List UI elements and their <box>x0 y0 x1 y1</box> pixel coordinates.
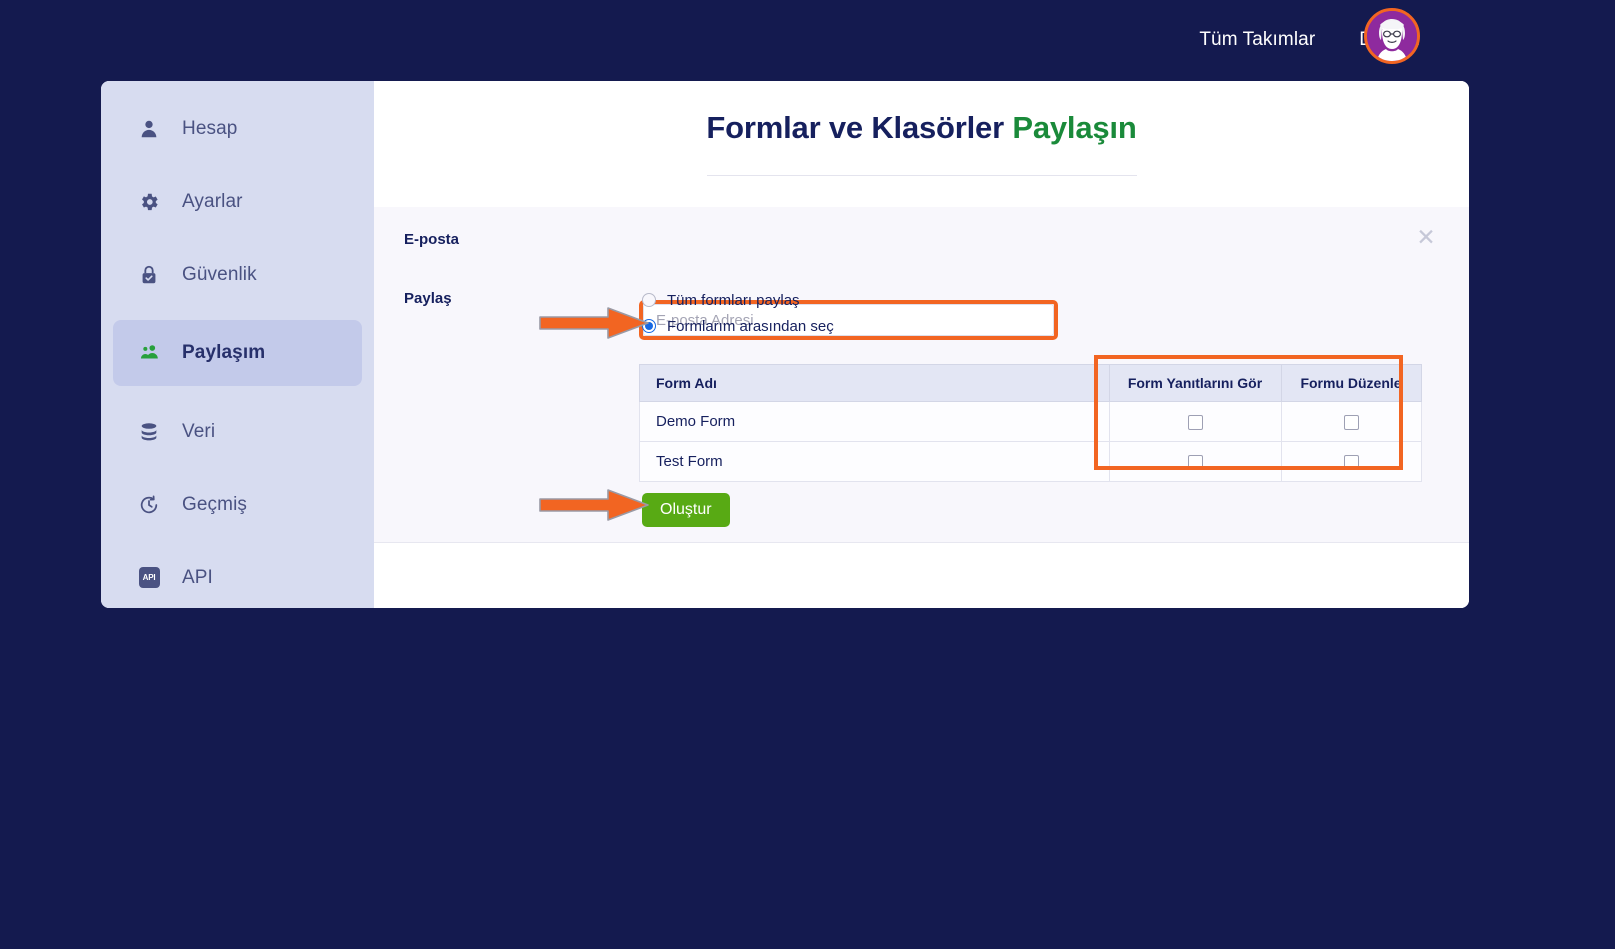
api-badge-icon: API <box>138 567 160 589</box>
checkbox-view-responses[interactable] <box>1188 455 1203 470</box>
arrow-annotation-create-button <box>536 487 652 523</box>
avatar[interactable] <box>1364 8 1420 64</box>
sidebar: Hesap Ayarlar Güvenlik <box>101 81 374 608</box>
checkbox-view-responses[interactable] <box>1188 415 1203 430</box>
checkbox-edit-form[interactable] <box>1344 455 1359 470</box>
avatar-face-icon <box>1367 11 1417 61</box>
cell-edit-form <box>1282 402 1422 442</box>
arrow-annotation-radio <box>536 305 652 341</box>
sidebar-item-label: Hesap <box>182 118 237 140</box>
gear-icon <box>138 191 160 213</box>
table-header-row: Form Adı Form Yanıtlarını Gör Formu Düze… <box>640 365 1422 402</box>
api-badge-text: API <box>139 567 160 588</box>
cell-view-responses <box>1110 442 1282 482</box>
share-label: Paylaş <box>404 290 452 307</box>
checkbox-edit-form[interactable] <box>1344 415 1359 430</box>
sidebar-item-label: Güvenlik <box>182 264 257 286</box>
column-header-view-responses: Form Yanıtlarını Gör <box>1110 365 1282 402</box>
content-area: Formlar ve Klasörler Paylaşın E-posta Pa… <box>374 81 1469 608</box>
radio-option-all-forms[interactable]: Tüm formları paylaş <box>642 287 834 313</box>
page-title-main: Formlar ve Klasörler <box>706 110 1004 145</box>
page-title-accent: Paylaşın <box>1012 110 1136 145</box>
close-icon[interactable]: ✕ <box>1414 225 1438 249</box>
create-button[interactable]: Oluştur <box>642 493 730 527</box>
radio-option-select-forms[interactable]: Formlarım arasından seç <box>642 313 834 339</box>
sidebar-item-label: Veri <box>182 421 215 443</box>
settings-card: Hesap Ayarlar Güvenlik <box>101 81 1469 608</box>
email-label: E-posta <box>404 231 459 248</box>
cell-form-name: Test Form <box>640 442 1110 482</box>
page-title: Formlar ve Klasörler Paylaşın <box>374 81 1469 146</box>
sidebar-item-guvenlik[interactable]: Güvenlik <box>113 247 362 302</box>
database-icon <box>138 421 160 443</box>
forms-table-wrapper: Form Adı Form Yanıtlarını Gör Formu Düze… <box>639 364 1399 482</box>
share-scope-radio-group: Tüm formları paylaş Formlarım arasından … <box>642 287 834 339</box>
column-header-edit-form: Formu Düzenle <box>1282 365 1422 402</box>
people-icon <box>138 342 160 364</box>
sidebar-item-veri[interactable]: Veri <box>113 404 362 459</box>
sidebar-item-label: API <box>182 567 213 589</box>
table-row: Test Form <box>640 442 1422 482</box>
sidebar-item-ayarlar[interactable]: Ayarlar <box>113 174 362 229</box>
title-divider <box>707 175 1137 176</box>
radio-all-forms-label: Tüm formları paylaş <box>667 292 800 309</box>
sidebar-item-label: Geçmiş <box>182 494 247 516</box>
sidebar-item-label: Ayarlar <box>182 191 243 213</box>
radio-select-forms-label: Formlarım arasından seç <box>667 318 834 335</box>
cell-edit-form <box>1282 442 1422 482</box>
lock-icon <box>138 264 160 286</box>
sidebar-item-paylasim[interactable]: Paylaşım <box>113 320 362 386</box>
sidebar-item-hesap[interactable]: Hesap <box>113 101 362 156</box>
person-icon <box>138 118 160 140</box>
forms-table: Form Adı Form Yanıtlarını Gör Formu Düze… <box>639 364 1422 482</box>
cell-view-responses <box>1110 402 1282 442</box>
table-row: Demo Form <box>640 402 1422 442</box>
nav-link-all-teams[interactable]: Tüm Takımlar <box>1199 29 1315 51</box>
sidebar-item-api[interactable]: API API <box>113 550 362 605</box>
sidebar-item-label: Paylaşım <box>182 342 265 364</box>
column-header-form-name: Form Adı <box>640 365 1110 402</box>
cell-form-name: Demo Form <box>640 402 1110 442</box>
sidebar-item-gecmis[interactable]: Geçmiş <box>113 477 362 532</box>
clock-history-icon <box>138 494 160 516</box>
